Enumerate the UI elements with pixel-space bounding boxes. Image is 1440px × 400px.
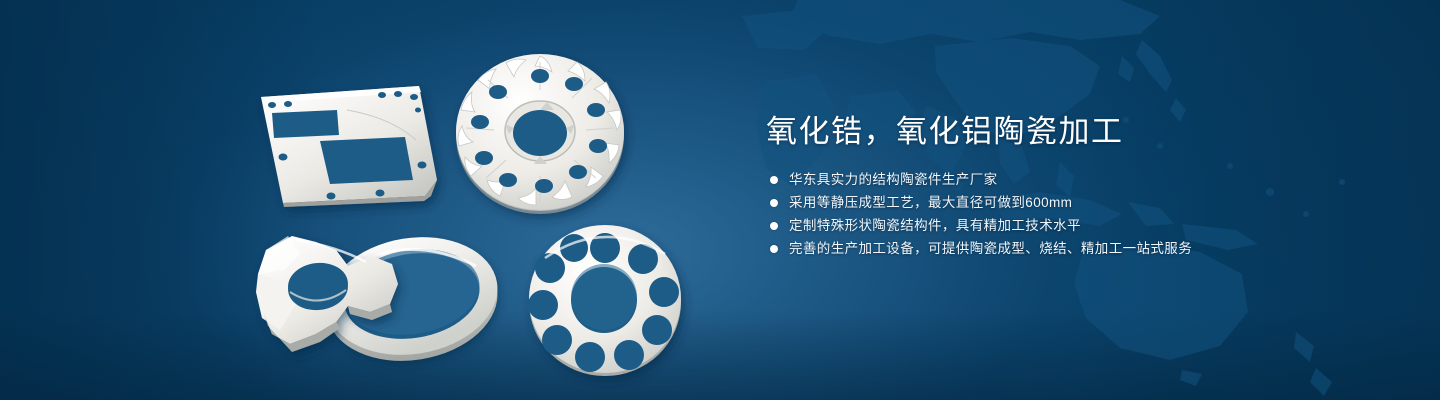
promo-banner: 氧化锆，氧化铝陶瓷加工 华东具实力的结构陶瓷件生产厂家 采用等静压成型工艺，最大…: [0, 0, 1440, 400]
feature-item: 完善的生产加工设备，可提供陶瓷成型、烧结、精加工一站式服务: [770, 237, 1386, 260]
feature-text: 采用等静压成型工艺，最大直径可做到600mm: [789, 193, 1072, 213]
feature-text: 定制特殊形状陶瓷结构件，具有精加工技术水平: [789, 216, 1081, 236]
feature-text: 完善的生产加工设备，可提供陶瓷成型、烧结、精加工一站式服务: [789, 239, 1192, 259]
feature-item: 采用等静压成型工艺，最大直径可做到600mm: [770, 191, 1386, 214]
feature-text: 华东具实力的结构陶瓷件生产厂家: [789, 170, 998, 190]
feature-item: 定制特殊形状陶瓷结构件，具有精加工技术水平: [770, 214, 1386, 237]
bullet-dot-icon: [770, 176, 778, 184]
banner-headline: 氧化锆，氧化铝陶瓷加工: [766, 112, 1386, 152]
banner-feature-list: 华东具实力的结构陶瓷件生产厂家 采用等静压成型工艺，最大直径可做到600mm 定…: [766, 168, 1386, 260]
bullet-dot-icon: [770, 245, 778, 253]
bullet-dot-icon: [770, 222, 778, 230]
feature-item: 华东具实力的结构陶瓷件生产厂家: [770, 168, 1386, 191]
background-edge-bottom: [0, 310, 1440, 400]
banner-text-block: 氧化锆，氧化铝陶瓷加工 华东具实力的结构陶瓷件生产厂家 采用等静压成型工艺，最大…: [766, 112, 1386, 260]
bullet-dot-icon: [770, 199, 778, 207]
